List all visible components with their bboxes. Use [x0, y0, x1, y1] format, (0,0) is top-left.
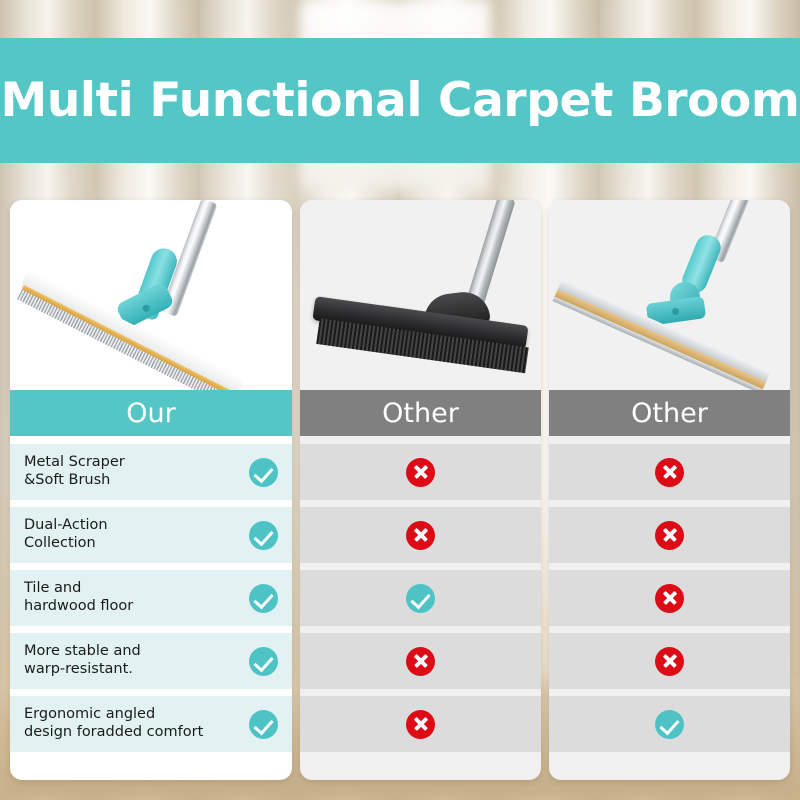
cross-circle-icon: [655, 584, 684, 613]
check-circle-icon: [655, 710, 684, 739]
table-row: [300, 507, 541, 563]
check-circle-icon: [249, 647, 278, 676]
column-header-label: Our: [126, 398, 175, 429]
cross-circle-icon: [655, 521, 684, 550]
column-header-label: Other: [382, 398, 459, 429]
table-row: [549, 696, 790, 752]
check-circle-icon: [249, 458, 278, 487]
title-banner: Multi Functional Carpet Broom: [0, 38, 800, 163]
table-row: Ergonomic angleddesign foradded comfort: [10, 696, 292, 752]
cross-circle-icon: [406, 710, 435, 739]
product-image-other-1: [300, 200, 541, 390]
feature-label: Dual-ActionCollection: [24, 517, 249, 552]
check-circle-icon: [406, 584, 435, 613]
column-header-other-2: Other: [549, 390, 790, 436]
check-circle-icon: [249, 584, 278, 613]
column-header-ours: Our: [10, 390, 292, 436]
feature-label: Metal Scraper&Soft Brush: [24, 454, 249, 489]
column-other-2: Other: [549, 200, 790, 780]
column-ours: Our Metal Scraper&Soft Brush Dual-Action…: [10, 200, 292, 780]
feature-label: Ergonomic angleddesign foradded comfort: [24, 706, 249, 741]
table-row: [549, 570, 790, 626]
cross-circle-icon: [655, 458, 684, 487]
product-image-other-2: [549, 200, 790, 390]
column-other-1: Other: [300, 200, 541, 780]
squeegee-blade-white: [21, 272, 243, 390]
blade-silver: [557, 279, 770, 383]
table-row: More stable andwarp-resistant.: [10, 633, 292, 689]
squeegee-head: [552, 279, 771, 390]
check-circle-icon: [249, 521, 278, 550]
page-title: Multi Functional Carpet Broom: [0, 73, 799, 128]
table-row: Dual-ActionCollection: [10, 507, 292, 563]
cross-circle-icon: [406, 521, 435, 550]
table-row: [300, 696, 541, 752]
feature-rows-other-1: [300, 436, 541, 780]
broom-head: [15, 272, 242, 390]
table-row: [549, 444, 790, 500]
cross-circle-icon: [406, 458, 435, 487]
table-row: [549, 633, 790, 689]
comparison-table: Our Metal Scraper&Soft Brush Dual-Action…: [0, 200, 800, 780]
feature-label: More stable andwarp-resistant.: [24, 643, 249, 678]
column-header-label: Other: [631, 398, 708, 429]
column-header-other-1: Other: [300, 390, 541, 436]
cross-circle-icon: [655, 647, 684, 676]
product-image-ours: [10, 200, 292, 390]
table-row: [300, 633, 541, 689]
infographic-stage: Multi Functional Carpet Broom Our Metal: [0, 0, 800, 800]
cross-circle-icon: [406, 647, 435, 676]
check-circle-icon: [249, 710, 278, 739]
feature-label: Tile andhardwood floor: [24, 580, 249, 615]
table-row: Tile andhardwood floor: [10, 570, 292, 626]
table-row: [300, 444, 541, 500]
table-row: [300, 570, 541, 626]
feature-rows-ours: Metal Scraper&Soft Brush Dual-ActionColl…: [10, 436, 292, 780]
table-row: Metal Scraper&Soft Brush: [10, 444, 292, 500]
table-row: [549, 507, 790, 563]
feature-rows-other-2: [549, 436, 790, 780]
